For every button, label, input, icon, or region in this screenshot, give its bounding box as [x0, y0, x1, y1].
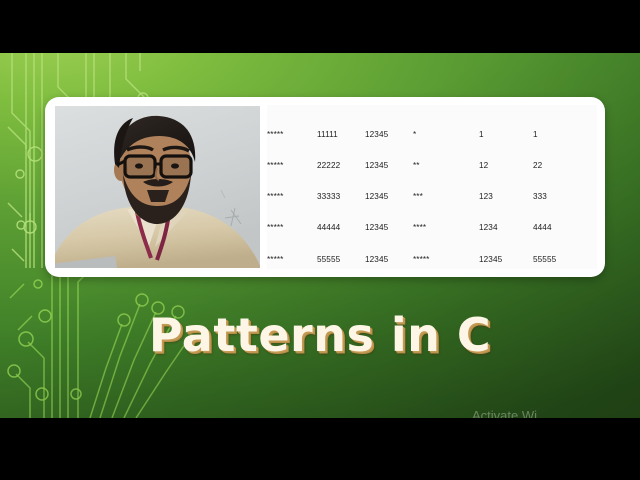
pattern-row: 1234	[479, 223, 533, 233]
slide-canvas: ***** ***** ***** ***** ***** 11111 2222…	[0, 53, 640, 418]
slide-title: Patterns in C	[0, 308, 640, 362]
pattern-row: 22	[533, 161, 585, 171]
pattern-row: 12345	[365, 255, 413, 265]
pattern-block-1: ***** ***** ***** ***** ***** 11111 2222…	[267, 109, 597, 277]
pattern-row: 44444	[317, 223, 365, 233]
pattern-column-left-repeat-number-triangle: 1 22 333 4444 55555	[533, 109, 585, 277]
pattern-row: *	[413, 130, 479, 140]
pattern-row: 12345	[479, 255, 533, 265]
pattern-row: 1	[533, 130, 585, 140]
activate-windows-watermark: Activate Wi	[472, 408, 632, 418]
pattern-row: *****	[267, 192, 317, 202]
letterbox-bottom	[0, 418, 640, 480]
pattern-column-full-star-square: ***** ***** ***** ***** *****	[267, 109, 317, 277]
pattern-row: 1	[479, 130, 533, 140]
pattern-row: 12345	[365, 130, 413, 140]
pattern-row: ****	[413, 223, 479, 233]
pattern-row: 22222	[317, 161, 365, 171]
pattern-row: 55555	[533, 255, 585, 265]
pattern-row: 11111	[317, 130, 365, 140]
pattern-row: 12345	[365, 192, 413, 202]
pattern-row: 12	[479, 161, 533, 171]
pattern-row: 33333	[317, 192, 365, 202]
pattern-row: *****	[267, 161, 317, 171]
pattern-row: *****	[267, 255, 317, 265]
pattern-row: *****	[267, 130, 317, 140]
pattern-row: 4444	[533, 223, 585, 233]
pattern-row: 123	[479, 192, 533, 202]
pattern-row: 55555	[317, 255, 365, 265]
slide-screenshot: ***** ***** ***** ***** ***** 11111 2222…	[0, 0, 640, 480]
pattern-row: *****	[413, 255, 479, 265]
pattern-column-left-number-triangle: 1 12 123 1234 12345	[479, 109, 533, 277]
pattern-row: *****	[267, 223, 317, 233]
pattern-row: 333	[533, 192, 585, 202]
pattern-column-number-sequence-repeat: 12345 12345 12345 12345 12345	[365, 109, 413, 277]
pattern-output-area: ***** ***** ***** ***** ***** 11111 2222…	[267, 105, 597, 269]
pattern-column-left-star-triangle: * ** *** **** *****	[413, 109, 479, 277]
pattern-column-row-number-repeat: 11111 22222 33333 44444 55555	[317, 109, 365, 277]
letterbox-top	[0, 0, 640, 53]
presenter-photo	[55, 106, 260, 268]
content-card: ***** ***** ***** ***** ***** 11111 2222…	[45, 97, 605, 277]
pattern-row: ***	[413, 192, 479, 202]
watermark-line-1: Activate Wi	[472, 408, 632, 418]
pattern-row: 12345	[365, 161, 413, 171]
pattern-row: **	[413, 161, 479, 171]
pattern-row: 12345	[365, 223, 413, 233]
